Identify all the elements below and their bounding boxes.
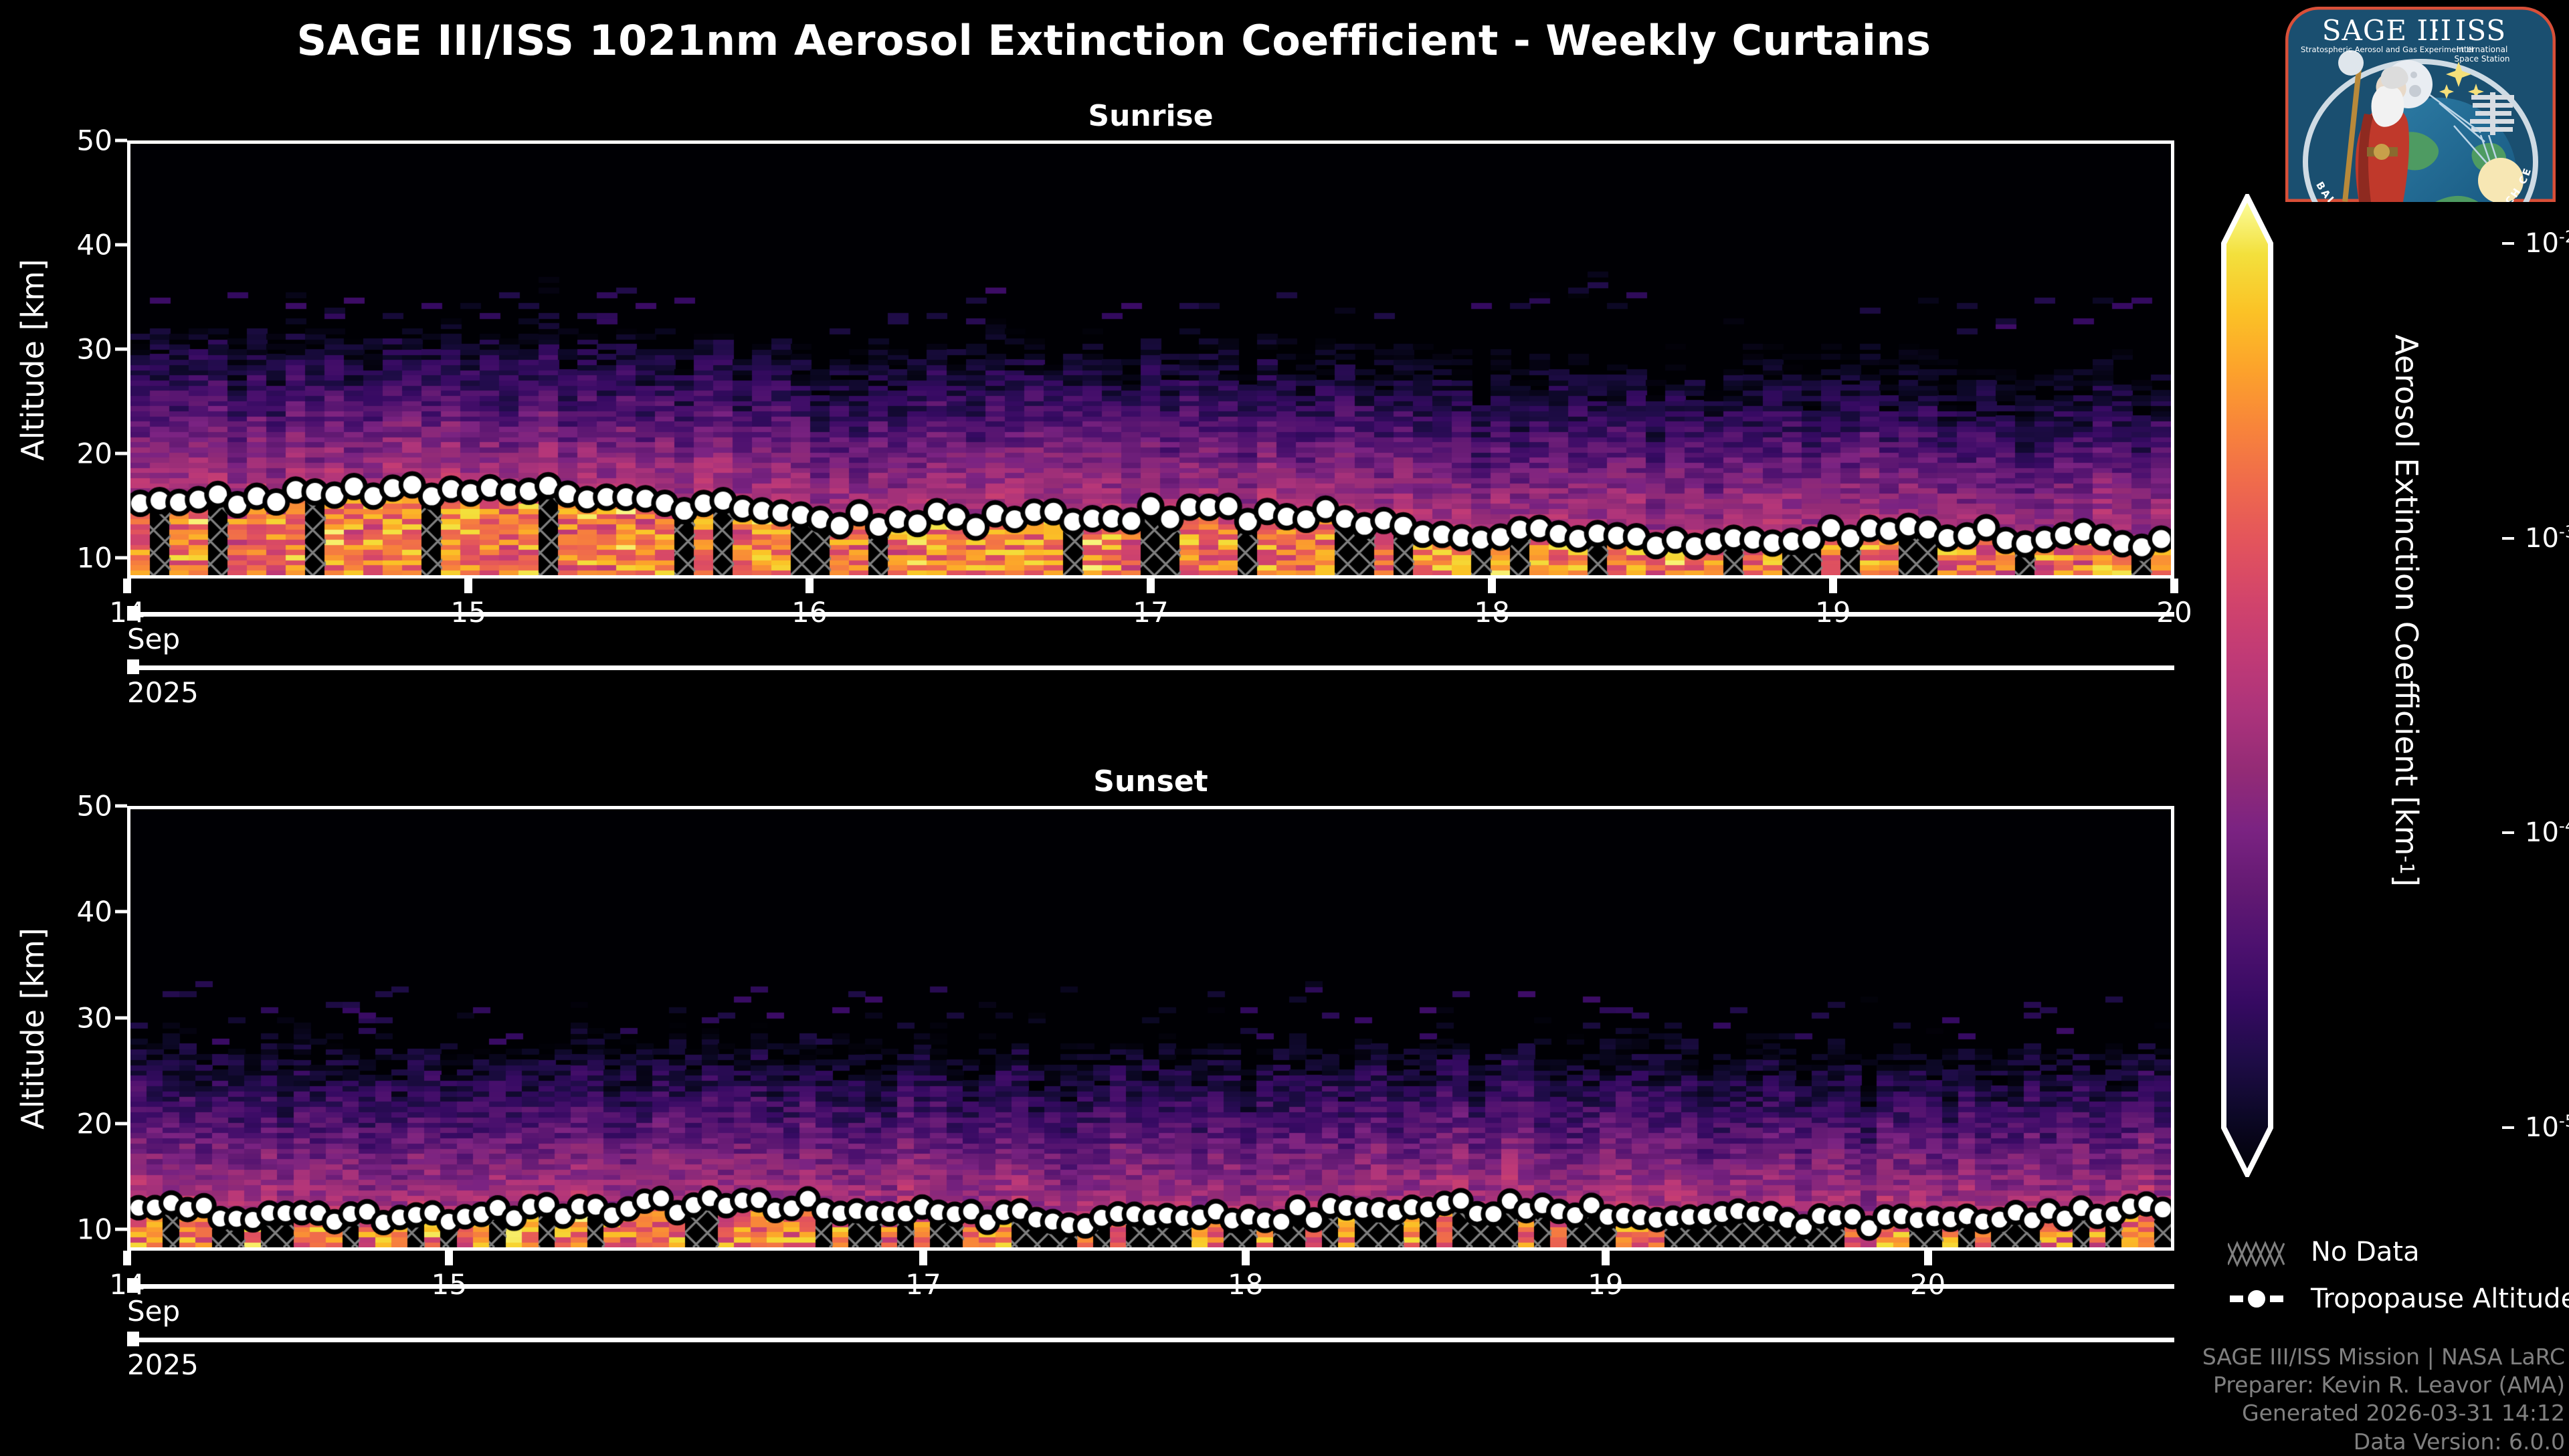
page-title: SAGE III/ISS 1021nm Aerosol Extinction C… <box>0 16 2228 65</box>
plot-area-sunrise[interactable] <box>127 140 2174 579</box>
figure-root: SAGE III/ISS 1021nm Aerosol Extinction C… <box>0 0 2569 1445</box>
colorbar-gradient <box>2224 197 2271 1174</box>
colorbar-label-tail: ] <box>2388 875 2424 887</box>
footer-line-mission: SAGE III/ISS Mission | NASA LaRC <box>2057 1343 2565 1371</box>
colorbar-tick-mark <box>2502 242 2514 245</box>
date-row-year-label-sunset: 2025 <box>127 1348 199 1381</box>
x-tick-mark <box>445 1251 453 1265</box>
y-axis-label-sunset: Altitude [km] <box>15 928 51 1130</box>
colorbar-tick-mark <box>2502 1126 2514 1129</box>
y-tick-mark <box>115 1016 127 1019</box>
legend-row-tropopause: Tropopause Altitude <box>2228 1281 2569 1317</box>
date-row-year-label-sunrise: 2025 <box>127 676 199 709</box>
x-tick-mark <box>1829 579 1837 593</box>
y-tick-label: 50 <box>77 124 112 157</box>
plot-area-sunset[interactable] <box>127 806 2174 1251</box>
y-axis-label-sunrise: Altitude [km] <box>15 259 51 461</box>
y-tick-mark <box>115 243 127 246</box>
x-tick-mark <box>464 579 472 593</box>
no-data-hatch-icon <box>2228 1234 2292 1270</box>
y-tick-mark <box>115 347 127 350</box>
x-tick-mark <box>2170 579 2178 593</box>
svg-text:ISS: ISS <box>2455 14 2506 47</box>
x-tick-mark <box>919 1251 927 1265</box>
colorbar-label-exponent: -1 <box>2396 855 2418 874</box>
date-row-nub <box>127 1332 139 1346</box>
svg-text:·: · <box>2431 14 2439 47</box>
y-tick-mark <box>115 805 127 808</box>
colorbar-label-main: Aerosol Extinction Coefficient [km <box>2388 334 2424 855</box>
svg-text:International: International <box>2457 45 2508 54</box>
y-tick-label: 50 <box>77 790 112 823</box>
legend-label-tropopause: Tropopause Altitude <box>2311 1283 2569 1314</box>
footer: SAGE III/ISS Mission | NASA LaRC Prepare… <box>2057 1343 2565 1456</box>
legend-label-no-data: No Data <box>2311 1237 2420 1267</box>
y-tick-label: 20 <box>77 1108 112 1140</box>
footer-line-version: Data Version: 6.0.0 <box>2057 1428 2565 1456</box>
colorbar-tick-mark <box>2502 537 2514 540</box>
x-tick-mark <box>1488 579 1496 593</box>
date-row-nub <box>127 1278 139 1293</box>
y-tick-mark <box>115 139 127 142</box>
colorbar-group: 10-210-310-410-5 Aerosol Extinction Coef… <box>2221 194 2502 1177</box>
date-row-nub <box>127 606 139 621</box>
y-tick-label: 30 <box>77 1001 112 1034</box>
y-tick-mark <box>115 556 127 559</box>
date-row-nub <box>127 659 139 674</box>
legend-row-no-data: No Data <box>2228 1234 2420 1270</box>
x-tick-mark <box>1924 1251 1932 1265</box>
date-row-month-label-sunrise: Sep <box>127 623 180 655</box>
date-row-year-sunset: 2025 <box>127 1338 2174 1342</box>
colorbar[interactable] <box>2221 194 2273 1177</box>
y-tick-label: 10 <box>77 1213 112 1246</box>
date-row-month-label-sunset: Sep <box>127 1295 180 1328</box>
y-tick-label: 20 <box>77 437 112 470</box>
date-row-year-sunrise: 2025 <box>127 665 2174 670</box>
y-tick-mark <box>115 910 127 914</box>
panel-title-sunrise: Sunrise <box>127 99 2174 133</box>
date-row-month-sunset: Sep <box>127 1284 2174 1289</box>
y-tick-label: 40 <box>77 228 112 261</box>
footer-line-preparer: Preparer: Kevin R. Leavor (AMA) <box>2057 1371 2565 1399</box>
svg-text:Space Station: Space Station <box>2454 54 2509 64</box>
y-tick-label: 10 <box>77 541 112 574</box>
y-tick-mark <box>115 1228 127 1231</box>
x-tick-mark <box>1602 1251 1610 1265</box>
mission-logo: SAGE III · ISS Stratospheric Aerosol and… <box>2280 1 2561 202</box>
colorbar-tick-mark <box>2502 831 2514 834</box>
x-tick-mark <box>805 579 814 593</box>
tropopause-line-icon <box>2228 1281 2292 1317</box>
x-tick-mark <box>1147 579 1155 593</box>
y-tick-mark <box>115 1122 127 1126</box>
y-tick-mark <box>115 451 127 455</box>
x-tick-mark <box>1242 1251 1250 1265</box>
panel-sunrise: Sunrise Altitude [km] 1020304050 1415161… <box>127 140 2174 579</box>
colorbar-label: Aerosol Extinction Coefficient [km-1] <box>2388 334 2424 1043</box>
panel-sunset: Sunset Altitude [km] 1020304050 14151718… <box>127 806 2174 1251</box>
footer-line-generated: Generated 2026-03-31 14:12 <box>2057 1399 2565 1427</box>
date-row-month-sunrise: Sep <box>127 612 2174 617</box>
panel-title-sunset: Sunset <box>127 764 2174 799</box>
y-tick-label: 30 <box>77 332 112 365</box>
legend: No Data Tropopause Altitude <box>2228 1234 2562 1321</box>
x-tick-mark <box>123 579 131 593</box>
y-tick-label: 40 <box>77 896 112 928</box>
svg-text:Stratospheric Aerosol and Gas: Stratospheric Aerosol and Gas Experiment… <box>2301 45 2473 54</box>
x-tick-mark <box>123 1251 131 1265</box>
